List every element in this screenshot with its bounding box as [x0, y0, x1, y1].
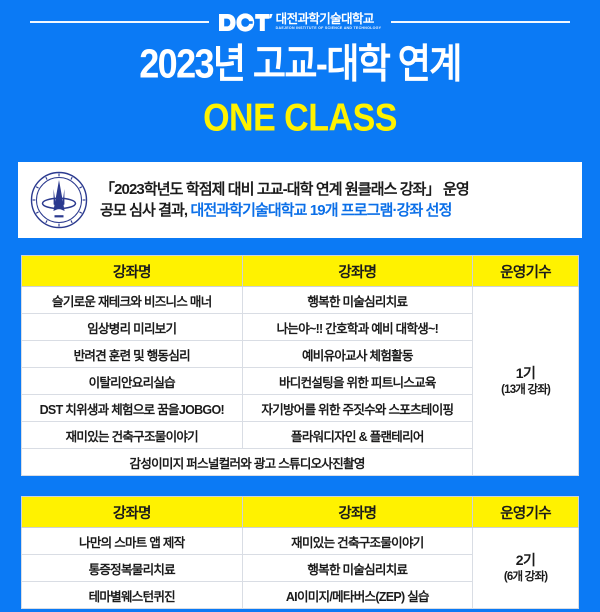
poster-title-line2: ONE CLASS: [0, 93, 600, 143]
course-cell: 나만의 스마트 앱 제작: [22, 528, 243, 555]
term-number: 2기: [477, 551, 574, 569]
university-seal-icon: [30, 171, 88, 229]
column-header-course-left: 강좌명: [22, 497, 243, 528]
column-header-term: 운영기수: [473, 497, 579, 528]
course-cell: 플라워디자인 & 플랜테리어: [242, 422, 473, 449]
course-cell: 바디컨설팅을 위한 피트니스교육: [242, 368, 473, 395]
header-logo-bar: 대전과학기술대학교 DAEJEON INSTITUTE OF SCIENCE A…: [0, 0, 600, 30]
course-cell: 행복한 미술심리치료: [242, 287, 473, 314]
info-line-2-lead: 공모 심사 결과,: [100, 202, 190, 219]
header-rule-right: [391, 21, 570, 23]
course-cell: AI이미지/메타버스(ZEP) 실습: [242, 582, 473, 609]
info-panel: 「2023학년도 학점제 대비 고교-대학 연계 원클래스 강좌」 운영 공모 …: [18, 162, 582, 238]
dst-wordmark-icon: [219, 13, 273, 32]
info-line-1-quoted: 「2023학년도 학점제 대비 고교-대학 연계 원클래스 강좌」: [100, 181, 440, 198]
column-header-term: 운영기수: [473, 256, 579, 287]
table-header-row: 강좌명 강좌명 운영기수: [22, 497, 579, 528]
info-line-2: 공모 심사 결과, 대전과학기술대학교 19개 프로그램·강좌 선정: [100, 200, 568, 221]
info-line-2-highlight: 대전과학기술대학교 19개 프로그램·강좌 선정: [190, 202, 451, 219]
course-cell-merged: 감성이미지 퍼스널컬러와 광고 스튜디오사진촬영: [22, 449, 473, 476]
poster-title-line1: 2023년 고교-대학 연계: [0, 39, 600, 88]
course-cell: 임상병리 미리보기: [22, 314, 243, 341]
schedule-table-term-2: 강좌명 강좌명 운영기수 나만의 스마트 앱 제작 재미있는 건축구조물이야기 …: [18, 493, 582, 612]
course-cell: 자기방어를 위한 주짓수와 스포츠테이핑: [242, 395, 473, 422]
dst-logo-korean-name: 대전과학기술대학교: [276, 13, 374, 26]
dst-logo: 대전과학기술대학교 DAEJEON INSTITUTE OF SCIENCE A…: [219, 13, 382, 32]
dst-logo-text: 대전과학기술대학교 DAEJEON INSTITUTE OF SCIENCE A…: [276, 13, 382, 32]
course-cell: 예비유아교사 체험활동: [242, 341, 473, 368]
course-cell: 반려견 훈련 및 행동심리: [22, 341, 243, 368]
course-cell: 행복한 미술심리치료: [242, 555, 473, 582]
column-header-course-right: 강좌명: [242, 497, 473, 528]
course-cell: 통증정복물리치료: [22, 555, 243, 582]
term-number: 1기: [477, 364, 574, 382]
course-cell: 이탈리안요리실습: [22, 368, 243, 395]
info-panel-text: 「2023학년도 학점제 대비 고교-대학 연계 원클래스 강좌」 운영 공모 …: [100, 179, 568, 222]
term-cell: 2기 (6개 강좌): [473, 528, 579, 609]
header-rule-left: [30, 21, 209, 23]
course-cell: 나는야~!! 간호학과 예비 대학생~!: [242, 314, 473, 341]
term-course-count: (13개 강좌): [477, 383, 574, 398]
dst-logo-english-name: DAEJEON INSTITUTE OF SCIENCE AND TECHNOL…: [276, 27, 382, 31]
poster-title-block: 2023년 고교-대학 연계 ONE CLASS: [0, 30, 600, 140]
course-cell: 슬기로운 재테크와 비즈니스 매너: [22, 287, 243, 314]
course-cell: 재미있는 건축구조물이야기: [242, 528, 473, 555]
course-cell: 테마별웨스턴퀴진: [22, 582, 243, 609]
term-cell: 1기 (13개 강좌): [473, 287, 579, 476]
poster-root: 대전과학기술대학교 DAEJEON INSTITUTE OF SCIENCE A…: [0, 0, 600, 600]
schedule-table-term-1: 강좌명 강좌명 운영기수 슬기로운 재테크와 비즈니스 매너 행복한 미술심리치…: [18, 252, 582, 479]
table-row: 나만의 스마트 앱 제작 재미있는 건축구조물이야기 2기 (6개 강좌): [22, 528, 579, 555]
column-header-course-right: 강좌명: [242, 256, 473, 287]
table-row: 슬기로운 재테크와 비즈니스 매너 행복한 미술심리치료 1기 (13개 강좌): [22, 287, 579, 314]
course-cell: DST 치위생과 체험으로 꿈을JOBGO!: [22, 395, 243, 422]
course-cell: 재미있는 건축구조물이야기: [22, 422, 243, 449]
term-course-count: (6개 강좌): [477, 570, 574, 585]
table-header-row: 강좌명 강좌명 운영기수: [22, 256, 579, 287]
column-header-course-left: 강좌명: [22, 256, 243, 287]
info-line-1-tail: 운영: [440, 181, 469, 198]
info-line-1: 「2023학년도 학점제 대비 고교-대학 연계 원클래스 강좌」 운영: [100, 179, 568, 200]
